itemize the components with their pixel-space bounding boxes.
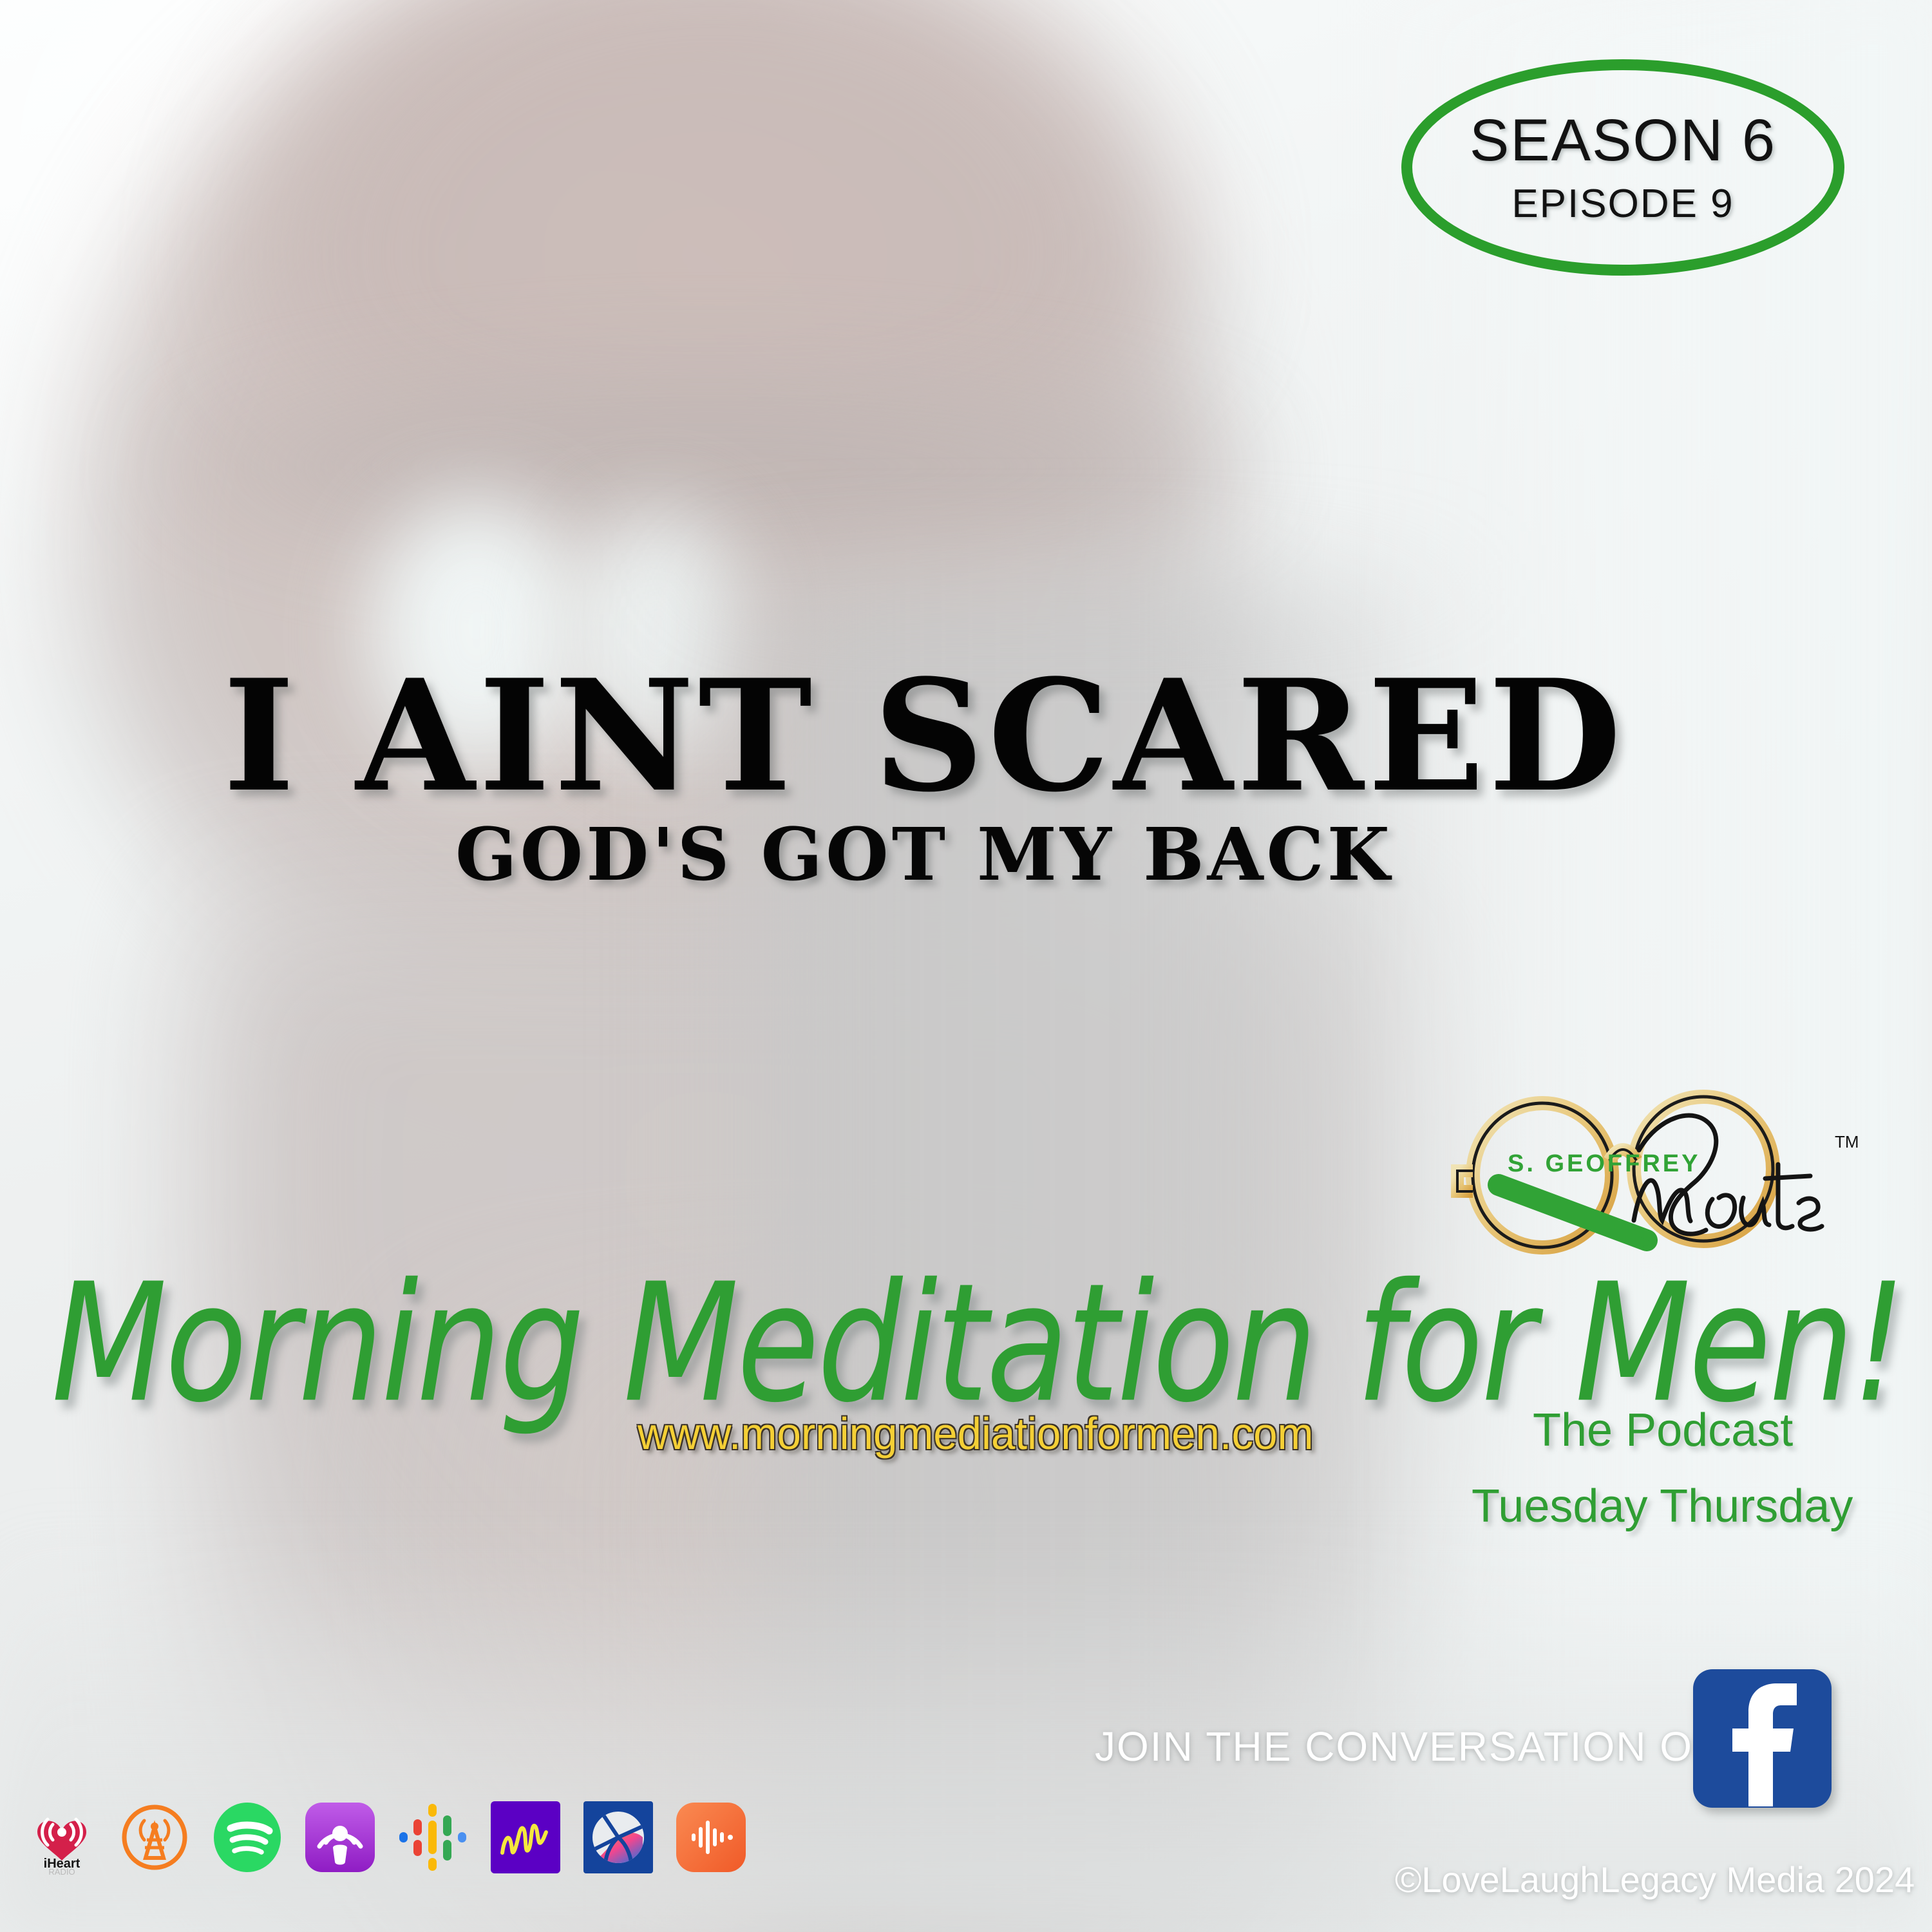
spotify-icon[interactable] [210, 1800, 285, 1875]
episode-subtitle: GOD'S GOT MY BACK [0, 819, 1848, 891]
episode-title: I AINT SCARED [0, 660, 1848, 813]
copyright-notice: ©LoveLaughLegacy Media 2024 [1395, 1859, 1915, 1900]
episode-label: EPISODE 9 [1511, 184, 1734, 224]
season-episode-badge: SEASON 6 EPISODE 9 [1401, 59, 1844, 276]
website-url[interactable]: www.morningmediationformen.com [638, 1408, 1313, 1459]
audacy-icon[interactable] [117, 1800, 192, 1875]
google-podcasts-icon[interactable] [395, 1800, 470, 1875]
platform-icon-strip: iHeart RADIO [24, 1800, 748, 1875]
podcast-cover-art: SEASON 6 EPISODE 9 I AINT SCARED GOD'S G… [0, 0, 1932, 1932]
join-conversation-label: JOIN THE CONVERSATION ON [1095, 1723, 1724, 1770]
show-title: Morning Meditation for Men! [52, 1262, 1904, 1426]
castbox-icon[interactable] [674, 1800, 748, 1875]
svg-text:RADIO: RADIO [48, 1867, 75, 1875]
apple-podcasts-icon[interactable] [303, 1800, 377, 1875]
radiopublic-icon[interactable] [581, 1800, 656, 1875]
facebook-icon[interactable] [1693, 1669, 1832, 1808]
podbean-icon[interactable] [488, 1800, 563, 1875]
season-label: SEASON 6 [1470, 111, 1776, 170]
podcast-label: The Podcast [1533, 1404, 1793, 1457]
host-name: S. GEOFFREY [1508, 1150, 1700, 1178]
trademark-mark: TM [1835, 1132, 1859, 1151]
podcast-schedule: Tuesday Thursday [1472, 1480, 1853, 1533]
iheartradio-icon[interactable]: iHeart RADIO [24, 1800, 99, 1875]
